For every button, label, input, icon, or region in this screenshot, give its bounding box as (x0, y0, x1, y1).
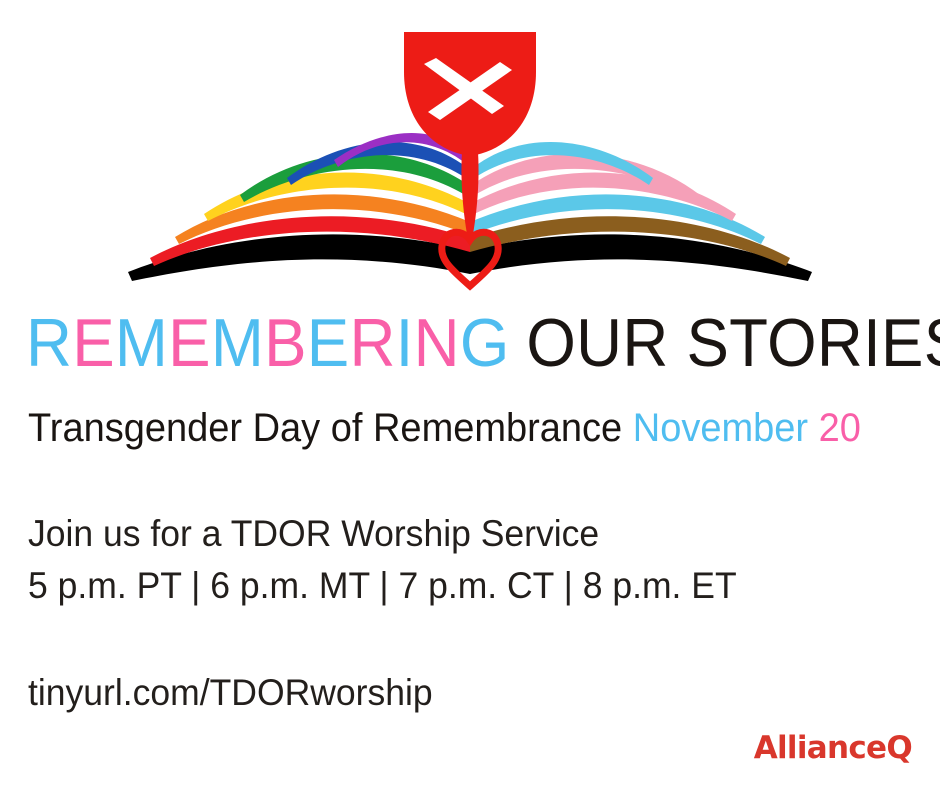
subtitle-space (622, 406, 633, 450)
allianceq-logo: AllianceQ (754, 730, 912, 766)
title-letter: R (26, 305, 72, 381)
title-letter: M (211, 305, 264, 381)
page-title: REMEMBERINGOUR STORIES (26, 306, 863, 380)
title-letter: E (72, 305, 115, 381)
title-letter: E (168, 305, 211, 381)
subtitle: Transgender Day of Remembrance November … (28, 404, 878, 452)
title-letter: E (307, 305, 350, 381)
title-letter: N (414, 305, 460, 381)
flyer-canvas: REMEMBERINGOUR STORIES Transgender Day o… (0, 0, 940, 788)
title-second-word: OUR STORIES (526, 305, 940, 381)
subtitle-space-2 (808, 406, 819, 450)
right-page-arcs (470, 142, 812, 281)
title-letter: R (349, 305, 395, 381)
title-letter: M (115, 305, 168, 381)
subtitle-month: November (633, 406, 808, 450)
title-letter: B (264, 305, 307, 381)
registration-link[interactable]: tinyurl.com/TDORworship (28, 668, 433, 718)
event-times: 5 p.m. PT | 6 p.m. MT | 7 p.m. CT | 8 p.… (28, 560, 882, 612)
subtitle-day: 20 (819, 406, 861, 450)
event-details: Join us for a TDOR Worship Service 5 p.m… (28, 508, 882, 612)
left-page-arcs (128, 133, 470, 281)
tdor-book-chalice-logo (0, 0, 940, 300)
title-letter: I (396, 305, 414, 381)
event-description: Join us for a TDOR Worship Service (28, 508, 882, 560)
title-letter: G (460, 305, 510, 381)
subtitle-lead: Transgender Day of Remembrance (28, 406, 622, 450)
